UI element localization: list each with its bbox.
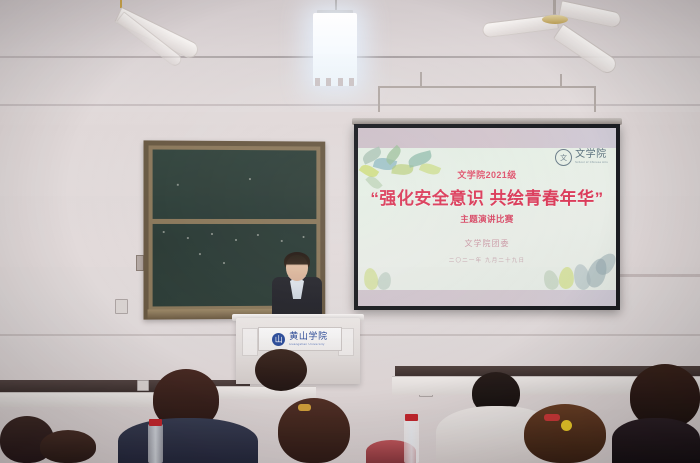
speaker-head: [286, 255, 308, 281]
screen-mount-drop-right: [560, 74, 562, 88]
leaf-decor: [363, 267, 380, 291]
slide-heading-group: 文学院2021级 “强化安全意识 共绘青春年华” 主题演讲比赛: [358, 168, 616, 225]
water-bottle-cap: [149, 419, 162, 426]
slide-logo-en: School of Chinese Arts: [575, 162, 608, 165]
classroom-photo: 文 文学院 School of Chinese Arts 文学院2021级 “强…: [0, 0, 700, 463]
water-bottle: [404, 420, 419, 463]
slide-subtitle: 主题演讲比赛: [358, 213, 616, 225]
podium-plaque-en: Huangshan University: [289, 343, 327, 346]
presentation-slide: 文 文学院 School of Chinese Arts 文学院2021级 “强…: [358, 128, 616, 306]
podium-plaque: 山 黄山学院 Huangshan University: [258, 327, 342, 351]
hair-clip: [298, 404, 311, 411]
ceiling-fan-hub: [542, 15, 568, 24]
slide-logo: 文 文学院 School of Chinese Arts: [555, 149, 608, 166]
slide-kicker: 文学院2021级: [358, 168, 616, 181]
fluorescent-lamp: [313, 13, 357, 86]
light-switch[interactable]: [115, 299, 128, 314]
podium-plaque-cn: 黄山学院: [289, 332, 327, 341]
hair-clip-yellow: [561, 420, 572, 431]
projector-screen: 文 文学院 School of Chinese Arts 文学院2021级 “强…: [354, 124, 620, 310]
slide-bottom-band: [358, 290, 616, 306]
slide-title: “强化安全意识 共绘青春年华”: [358, 184, 616, 209]
hair-clip-red: [544, 414, 560, 421]
water-bottle-cap: [405, 414, 418, 421]
screen-mount-rail: [378, 86, 596, 88]
water-bottle: [148, 424, 163, 463]
leaf-decor: [376, 271, 393, 292]
leaf-decor: [541, 268, 560, 291]
wall-outlet[interactable]: [137, 380, 149, 391]
slide-organizer: 文学院团委: [358, 238, 616, 249]
screen-mount-drop-left: [420, 72, 422, 88]
slide-date: 二〇二一年 九月二十九日: [358, 256, 616, 264]
podium-emblem-icon: 山: [272, 333, 285, 346]
slide-logo-cn: 文学院: [575, 150, 608, 160]
leaf-decor: [558, 266, 575, 289]
slide-logo-emblem: 文: [555, 149, 572, 166]
podium-side-panel-left: [242, 328, 258, 356]
